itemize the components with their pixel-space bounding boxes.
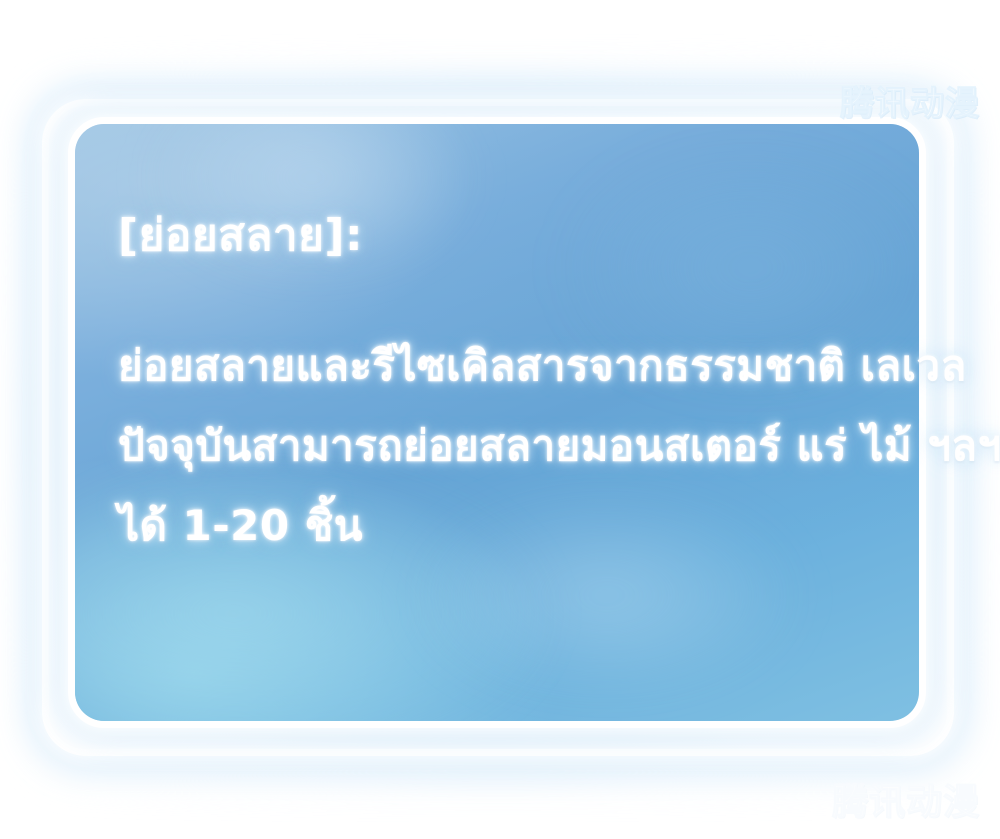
skill-description-line-2: ปัจจุบันสามารถย่อยสลายมอนสเตอร์ แร่ ไม้ … xyxy=(118,406,918,486)
skill-title: [ย่อยสลาย]: xyxy=(118,208,918,264)
skill-description-line-1: ย่อยสลายและรีไซเคิลสารจากธรรมชาติ เลเวล xyxy=(118,326,918,406)
skill-description-block: [ย่อยสลาย]: ย่อยสลายและรีไซเคิลสารจากธรร… xyxy=(118,208,918,566)
skill-description-line-3: ได้ 1-20 ชิ้น xyxy=(118,486,918,566)
comic-page-canvas: [ย่อยสลาย]: ย่อยสลายและรีไซเคิลสารจากธรร… xyxy=(0,0,1000,839)
